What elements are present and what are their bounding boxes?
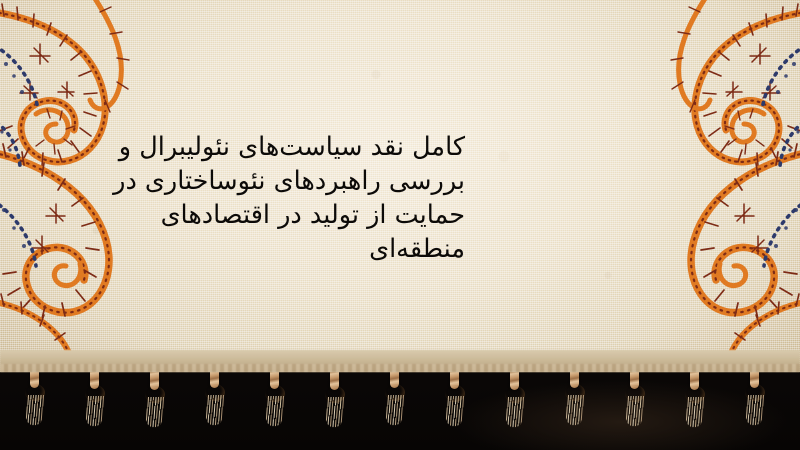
- title-line: حمایت از تولید در اقتصادهای: [161, 198, 465, 232]
- fabric-hem-stitching: [0, 364, 800, 372]
- title-line: منطقه‌ای: [369, 232, 465, 266]
- slide-canvas: کامل نقد سیاست‌های نئولیبرال وبررسی راهب…: [0, 0, 800, 450]
- slide-title: کامل نقد سیاست‌های نئولیبرال وبررسی راهب…: [0, 130, 800, 266]
- title-line: کامل نقد سیاست‌های نئولیبرال و: [119, 130, 465, 164]
- title-line: بررسی راهبردهای نئوساختاری در: [113, 164, 465, 198]
